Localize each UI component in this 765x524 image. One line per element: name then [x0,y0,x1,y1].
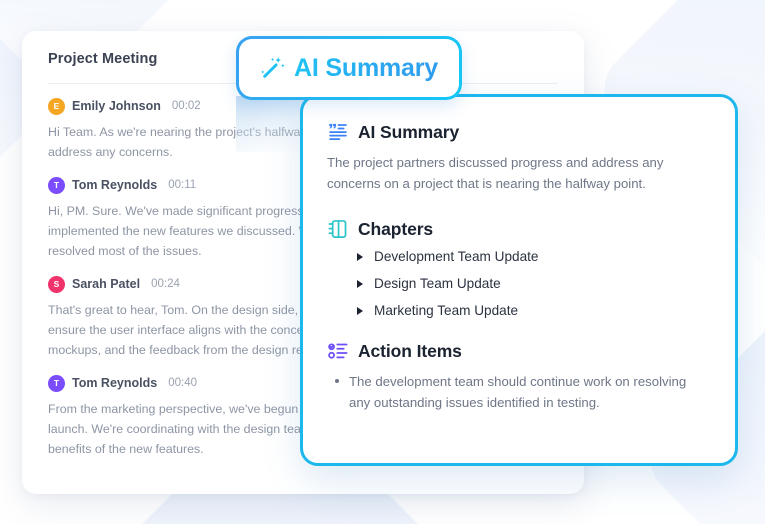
timestamp[interactable]: 00:40 [168,377,197,389]
chapter-label: Development Team Update [374,249,538,264]
chapter-label: Marketing Team Update [374,303,518,318]
magic-wand-icon [260,55,286,81]
timestamp[interactable]: 00:24 [151,278,180,290]
speaker-name: Tom Reynolds [72,376,157,390]
avatar: T [48,177,65,194]
ai-summary-text: The project partners discussed progress … [327,152,709,194]
chapter-item[interactable]: Development Team Update [357,249,709,264]
chevron-right-icon[interactable] [357,253,363,261]
avatar: T [48,375,65,392]
checklist-icon [327,340,349,362]
ai-summary-section-header: AI Summary [327,121,709,143]
ai-summary-section-title: AI Summary [358,122,459,143]
timestamp[interactable]: 00:11 [168,179,196,191]
action-item: The development team should continue wor… [335,371,709,413]
action-item-text: The development team should continue wor… [349,371,709,413]
avatar: E [48,98,65,115]
speaker-name: Tom Reynolds [72,178,157,192]
action-items-section: Action Items The development team should… [327,340,709,413]
action-items-section-title: Action Items [358,341,462,362]
tab-ai-summary-label: AI Summary [294,54,438,83]
tab-ai-summary[interactable]: AI Summary [236,36,462,100]
avatar: S [48,276,65,293]
chapter-item[interactable]: Marketing Team Update [357,303,709,318]
chapters-section-title: Chapters [358,219,433,240]
chevron-right-icon[interactable] [357,307,363,315]
speaker-name: Emily Johnson [72,99,161,113]
speaker-name: Sarah Patel [72,277,140,291]
action-items-list: The development team should continue wor… [327,371,709,413]
bullet-icon [335,379,339,383]
chapter-label: Design Team Update [374,276,501,291]
chapters-list: Development Team UpdateDesign Team Updat… [327,249,709,318]
timestamp[interactable]: 00:02 [172,100,201,112]
action-items-section-header: Action Items [327,340,709,362]
page-title: Project Meeting [48,51,157,67]
chapters-section: Chapters Development Team UpdateDesign T… [327,218,709,318]
ai-summary-panel: AI Summary The project partners discusse… [300,94,738,466]
notebook-icon [327,218,349,240]
chapter-item[interactable]: Design Team Update [357,276,709,291]
chapters-section-header: Chapters [327,218,709,240]
chevron-right-icon[interactable] [357,280,363,288]
quote-lines-icon [327,121,349,143]
